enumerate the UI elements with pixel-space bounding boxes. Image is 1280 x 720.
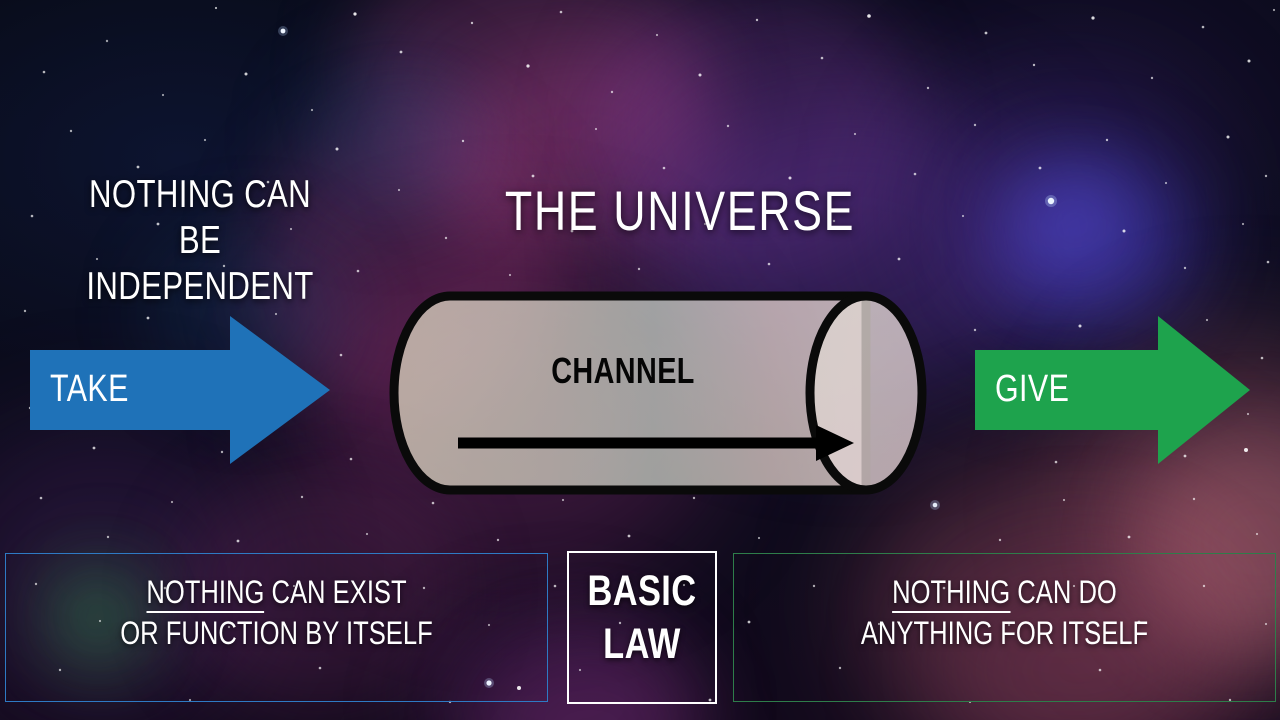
bottom-box-right-underlined: NOTHING [892,574,1010,613]
bottom-box-left-text: NOTHING CAN EXIST OR FUNCTION BY ITSELF [60,554,493,654]
cylinder-shape-icon [388,288,958,498]
bottom-box-right: NOTHING CAN DO ANYTHING FOR ITSELF [733,553,1276,702]
bottom-box-left-underlined: NOTHING [146,574,264,613]
cylinder-label: CHANNEL [435,350,811,392]
bottom-box-center-text: BASIC LAW [584,553,701,671]
bottom-box-center-line1: BASIC [584,565,701,618]
give-arrow-label: GIVE [995,370,1107,408]
bottom-box-left-line1-rest: CAN EXIST [264,574,406,610]
bottom-box-left: NOTHING CAN EXIST OR FUNCTION BY ITSELF [5,553,548,702]
take-arrow-label: TAKE [50,370,162,408]
headline-left: NOTHING CAN BE INDEPENDENT [64,172,336,310]
bottom-box-left-line2: OR FUNCTION BY ITSELF [60,613,493,654]
bottom-box-center-line2: LAW [584,618,701,671]
bottom-box-center: BASIC LAW [567,551,717,704]
bottom-box-right-text: NOTHING CAN DO ANYTHING FOR ITSELF [788,554,1221,654]
take-arrow[interactable]: TAKE [30,316,330,464]
channel-cylinder: CHANNEL [388,288,958,498]
headline-left-line2: INDEPENDENT [64,264,336,310]
bottom-box-right-line1-rest: CAN DO [1010,574,1117,610]
bottom-box-right-line2: ANYTHING FOR ITSELF [788,613,1221,654]
give-arrow[interactable]: GIVE [975,316,1250,464]
page-title: THE UNIVERSE [472,180,888,242]
slide-canvas: NOTHING CAN BE INDEPENDENT THE UNIVERSE … [0,0,1280,720]
headline-left-line1: NOTHING CAN BE [64,172,336,264]
